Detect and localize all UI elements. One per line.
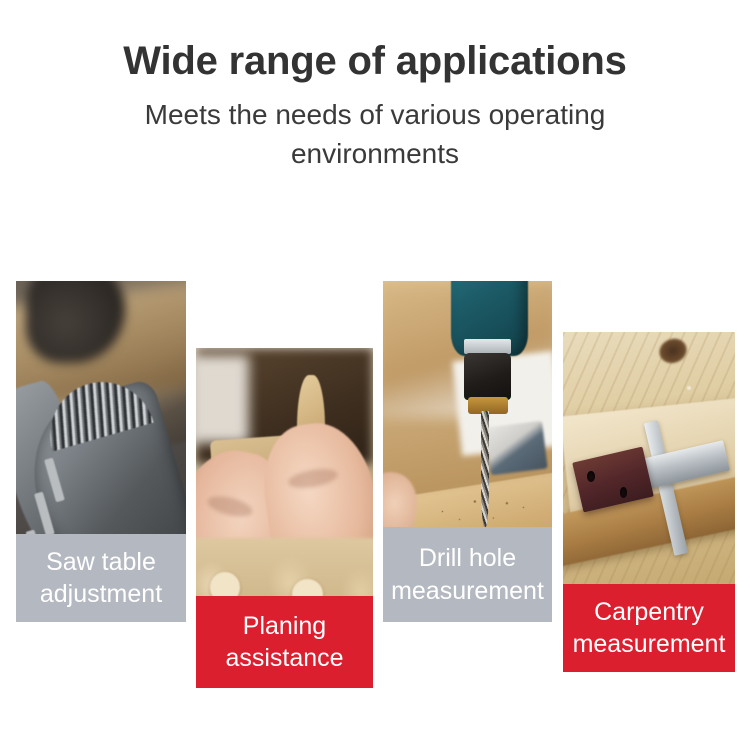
application-card-drill-hole-measurement[interactable]: Drill hole measurement bbox=[383, 281, 552, 622]
caption-line-1: Saw table bbox=[46, 546, 156, 579]
application-card-planing-assistance[interactable]: Planing assistance bbox=[196, 348, 373, 688]
application-card-saw-table-adjustment[interactable]: Saw table adjustment bbox=[16, 281, 186, 622]
page-title: Wide range of applications bbox=[0, 38, 750, 84]
heading-block: Wide range of applications Meets the nee… bbox=[0, 0, 750, 173]
caption-carpentry-measurement: Carpentry measurement bbox=[563, 584, 735, 672]
applications-page: Wide range of applications Meets the nee… bbox=[0, 0, 750, 750]
caption-planing-assistance: Planing assistance bbox=[196, 596, 373, 688]
caption-line-2: adjustment bbox=[40, 578, 162, 611]
caption-line-1: Carpentry bbox=[594, 596, 704, 629]
caption-line-2: assistance bbox=[225, 642, 343, 675]
caption-drill-hole-measurement: Drill hole measurement bbox=[383, 527, 552, 622]
caption-saw-table-adjustment: Saw table adjustment bbox=[16, 534, 186, 622]
page-subtitle: Meets the needs of various operating env… bbox=[0, 96, 750, 173]
caption-line-1: Planing bbox=[243, 610, 326, 643]
caption-line-1: Drill hole bbox=[419, 542, 516, 575]
application-card-carpentry-measurement[interactable]: Carpentry measurement bbox=[563, 332, 735, 672]
caption-line-2: measurement bbox=[391, 575, 544, 608]
caption-line-2: measurement bbox=[573, 628, 726, 661]
